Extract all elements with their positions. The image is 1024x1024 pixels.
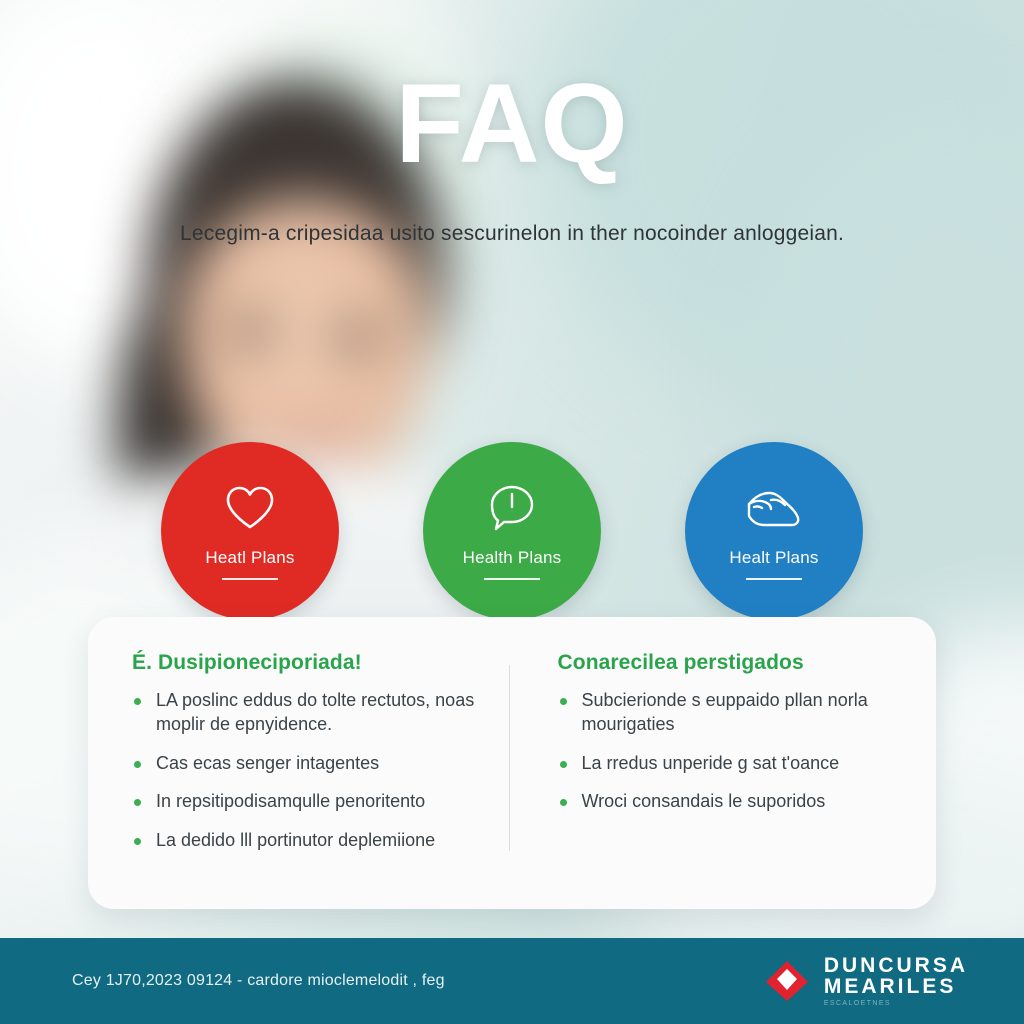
footer-bar: Cey 1J70,2023 09124 - cardore mioclemelo… xyxy=(0,938,1024,1024)
faq-left-heading: É. Dusipioneciporiada! xyxy=(132,651,475,675)
brand-line-1: DUNCURSA xyxy=(824,955,968,976)
faq-left-list: LA poslinc eddus do tolte rectutos, noas… xyxy=(132,689,475,853)
faq-poster: FAQ Lecegim-a cripesidaa usito sescurine… xyxy=(0,0,1024,1024)
pin-badge-health-plans-blue[interactable]: Healt Plans xyxy=(685,442,863,620)
speech-clock-icon xyxy=(484,482,540,534)
heart-icon xyxy=(222,482,278,534)
list-item: LA poslinc eddus do tolte rectutos, noas… xyxy=(132,689,475,737)
pin-badge-label: Healt Plans xyxy=(729,548,818,568)
pin-badge-rule xyxy=(746,578,802,580)
diamond-heart-icon xyxy=(764,959,810,1003)
brand-logo: DUNCURSA MEARILES ESCALOETNES xyxy=(764,955,968,1008)
list-item: In repsitipodisamqulle penoritento xyxy=(132,790,475,814)
page-title: FAQ xyxy=(0,68,1024,180)
pin-badge-health-plans-red[interactable]: Heatl Plans xyxy=(161,442,339,620)
pin-badge-label: Health Plans xyxy=(463,548,562,568)
pin-badge-label: Heatl Plans xyxy=(205,548,294,568)
brand-wordmark: DUNCURSA MEARILES ESCALOETNES xyxy=(824,955,968,1008)
brand-line-2: MEARILES xyxy=(824,976,968,997)
faq-content-card: É. Dusipioneciporiada! LA poslinc eddus … xyxy=(88,617,936,909)
list-item: La dedido lll portinutor deplemiione xyxy=(132,829,475,853)
list-item: Cas ecas senger intagentes xyxy=(132,752,475,776)
list-item: La rredus unperide g sat t'oance xyxy=(558,752,901,776)
faq-right-heading: Conarecilea perstigados xyxy=(558,651,901,675)
pin-badge-rule xyxy=(222,578,278,580)
page-subtitle: Lecegim-a cripesidaa usito sescurinelon … xyxy=(0,220,1024,247)
footer-caption: Cey 1J70,2023 09124 - cardore mioclemelo… xyxy=(72,972,445,990)
faq-column-right: Conarecilea perstigados Subcierionde s e… xyxy=(510,651,901,881)
pin-badge-group: Heatl Plans Health Plans xyxy=(0,442,1024,620)
faq-column-left: É. Dusipioneciporiada! LA poslinc eddus … xyxy=(132,651,509,881)
hand-care-icon xyxy=(746,482,802,534)
pin-badge-rule xyxy=(484,578,540,580)
faq-right-list: Subcierionde s euppaido pllan norla mour… xyxy=(558,689,901,814)
person-eye xyxy=(228,318,274,344)
brand-tagline: ESCALOETNES xyxy=(824,1000,968,1007)
list-item: Subcierionde s euppaido pllan norla mour… xyxy=(558,689,901,737)
person-eye xyxy=(332,324,378,350)
pin-badge-health-plans-green[interactable]: Health Plans xyxy=(423,442,601,620)
list-item: Wroci consandais le suporidos xyxy=(558,790,901,814)
